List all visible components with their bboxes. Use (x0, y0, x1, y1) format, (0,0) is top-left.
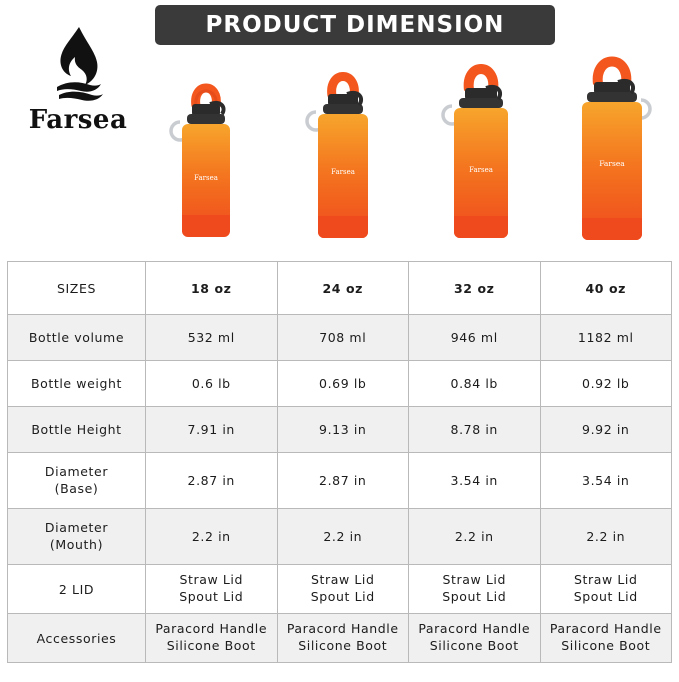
cell-lid-18oz: Straw Lid Spout Lid (146, 565, 278, 614)
cell-lid-18oz-line2: Spout Lid (148, 589, 275, 606)
cell-weight-32oz: 0.84 lb (409, 361, 541, 407)
header-cell-sizes: SIZES (8, 262, 146, 315)
cell-lid-32oz: Straw Lid Spout Lid (409, 565, 541, 614)
cell-accessories-32oz-line1: Paracord Handle (411, 621, 538, 638)
cell-diameter-mouth-40oz: 2.2 in (540, 509, 672, 565)
table-row: Accessories Paracord Handle Silicone Boo… (8, 614, 672, 663)
cell-accessories-24oz: Paracord Handle Silicone Boot (277, 614, 409, 663)
svg-text:Farsea: Farsea (599, 159, 625, 168)
row-label-diameter-base-line1: Diameter (10, 464, 143, 481)
cell-accessories-32oz: Paracord Handle Silicone Boot (409, 614, 541, 663)
cell-weight-40oz: 0.92 lb (540, 361, 672, 407)
cell-lid-24oz-line1: Straw Lid (280, 572, 407, 589)
table-row: Diameter (Mouth) 2.2 in 2.2 in 2.2 in 2.… (8, 509, 672, 565)
cell-lid-40oz: Straw Lid Spout Lid (540, 565, 672, 614)
header-cell-32oz: 32 oz (409, 262, 541, 315)
bottle-18oz-image: Farsea (166, 60, 246, 255)
cell-lid-32oz-line2: Spout Lid (411, 589, 538, 606)
row-label-diameter-mouth: Diameter (Mouth) (8, 509, 146, 565)
header-cell-24oz: 24 oz (277, 262, 409, 315)
cell-accessories-40oz: Paracord Handle Silicone Boot (540, 614, 672, 663)
cell-accessories-18oz-line1: Paracord Handle (148, 621, 275, 638)
cell-diameter-base-24oz: 2.87 in (277, 453, 409, 509)
cell-lid-24oz: Straw Lid Spout Lid (277, 565, 409, 614)
cell-diameter-base-32oz: 3.54 in (409, 453, 541, 509)
cell-diameter-mouth-18oz: 2.2 in (146, 509, 278, 565)
brand-block: Farsea (18, 25, 138, 135)
cell-height-18oz: 7.91 in (146, 407, 278, 453)
header-section: PRODUCT DIMENSION Farsea (0, 0, 679, 255)
cell-accessories-18oz-line2: Silicone Boot (148, 638, 275, 655)
row-label-2-lid: 2 LID (8, 565, 146, 614)
cell-lid-40oz-line2: Spout Lid (543, 589, 670, 606)
cell-lid-24oz-line2: Spout Lid (280, 589, 407, 606)
cell-diameter-mouth-32oz: 2.2 in (409, 509, 541, 565)
cell-weight-24oz: 0.69 lb (277, 361, 409, 407)
table-row: Bottle weight 0.6 lb 0.69 lb 0.84 lb 0.9… (8, 361, 672, 407)
table-header-row: SIZES 18 oz 24 oz 32 oz 40 oz (8, 262, 672, 315)
svg-text:Farsea: Farsea (331, 168, 355, 176)
bottle-32oz-image: Farsea (437, 44, 525, 256)
header-cell-18oz: 18 oz (146, 262, 278, 315)
page-title: PRODUCT DIMENSION (206, 12, 505, 38)
header-cell-40oz: 40 oz (540, 262, 672, 315)
bottle-24oz-image: Farsea (301, 50, 385, 255)
row-label-diameter-mouth-line1: Diameter (10, 520, 143, 537)
cell-volume-32oz: 946 ml (409, 315, 541, 361)
svg-text:Farsea: Farsea (194, 174, 218, 182)
cell-diameter-mouth-24oz: 2.2 in (277, 509, 409, 565)
cell-diameter-base-40oz: 3.54 in (540, 453, 672, 509)
bottle-40oz-image: Farsea (564, 36, 660, 256)
cell-volume-18oz: 532 ml (146, 315, 278, 361)
cell-accessories-24oz-line1: Paracord Handle (280, 621, 407, 638)
cell-volume-40oz: 1182 ml (540, 315, 672, 361)
table-row: Bottle volume 532 ml 708 ml 946 ml 1182 … (8, 315, 672, 361)
table-row: Bottle Height 7.91 in 9.13 in 8.78 in 9.… (8, 407, 672, 453)
row-label-diameter-base: Diameter (Base) (8, 453, 146, 509)
cell-lid-18oz-line1: Straw Lid (148, 572, 275, 589)
title-banner: PRODUCT DIMENSION (155, 5, 555, 45)
row-label-accessories: Accessories (8, 614, 146, 663)
product-dimension-table: SIZES 18 oz 24 oz 32 oz 40 oz Bottle vol… (7, 261, 672, 663)
row-label-bottle-volume: Bottle volume (8, 315, 146, 361)
cell-weight-18oz: 0.6 lb (146, 361, 278, 407)
cell-lid-40oz-line1: Straw Lid (543, 572, 670, 589)
cell-lid-32oz-line1: Straw Lid (411, 572, 538, 589)
cell-accessories-40oz-line1: Paracord Handle (543, 621, 670, 638)
cell-height-24oz: 9.13 in (277, 407, 409, 453)
cell-accessories-18oz: Paracord Handle Silicone Boot (146, 614, 278, 663)
cell-accessories-24oz-line2: Silicone Boot (280, 638, 407, 655)
cell-height-32oz: 8.78 in (409, 407, 541, 453)
table-row: 2 LID Straw Lid Spout Lid Straw Lid Spou… (8, 565, 672, 614)
cell-accessories-32oz-line2: Silicone Boot (411, 638, 538, 655)
row-label-bottle-weight: Bottle weight (8, 361, 146, 407)
flame-wave-logo-icon (49, 25, 107, 103)
row-label-diameter-mouth-line2: (Mouth) (10, 537, 143, 554)
cell-volume-24oz: 708 ml (277, 315, 409, 361)
cell-height-40oz: 9.92 in (540, 407, 672, 453)
row-label-bottle-height: Bottle Height (8, 407, 146, 453)
row-label-diameter-base-line2: (Base) (10, 481, 143, 498)
cell-diameter-base-18oz: 2.87 in (146, 453, 278, 509)
brand-name: Farsea (29, 105, 128, 135)
cell-accessories-40oz-line2: Silicone Boot (543, 638, 670, 655)
svg-text:Farsea: Farsea (469, 166, 493, 174)
table-row: Diameter (Base) 2.87 in 2.87 in 3.54 in … (8, 453, 672, 509)
